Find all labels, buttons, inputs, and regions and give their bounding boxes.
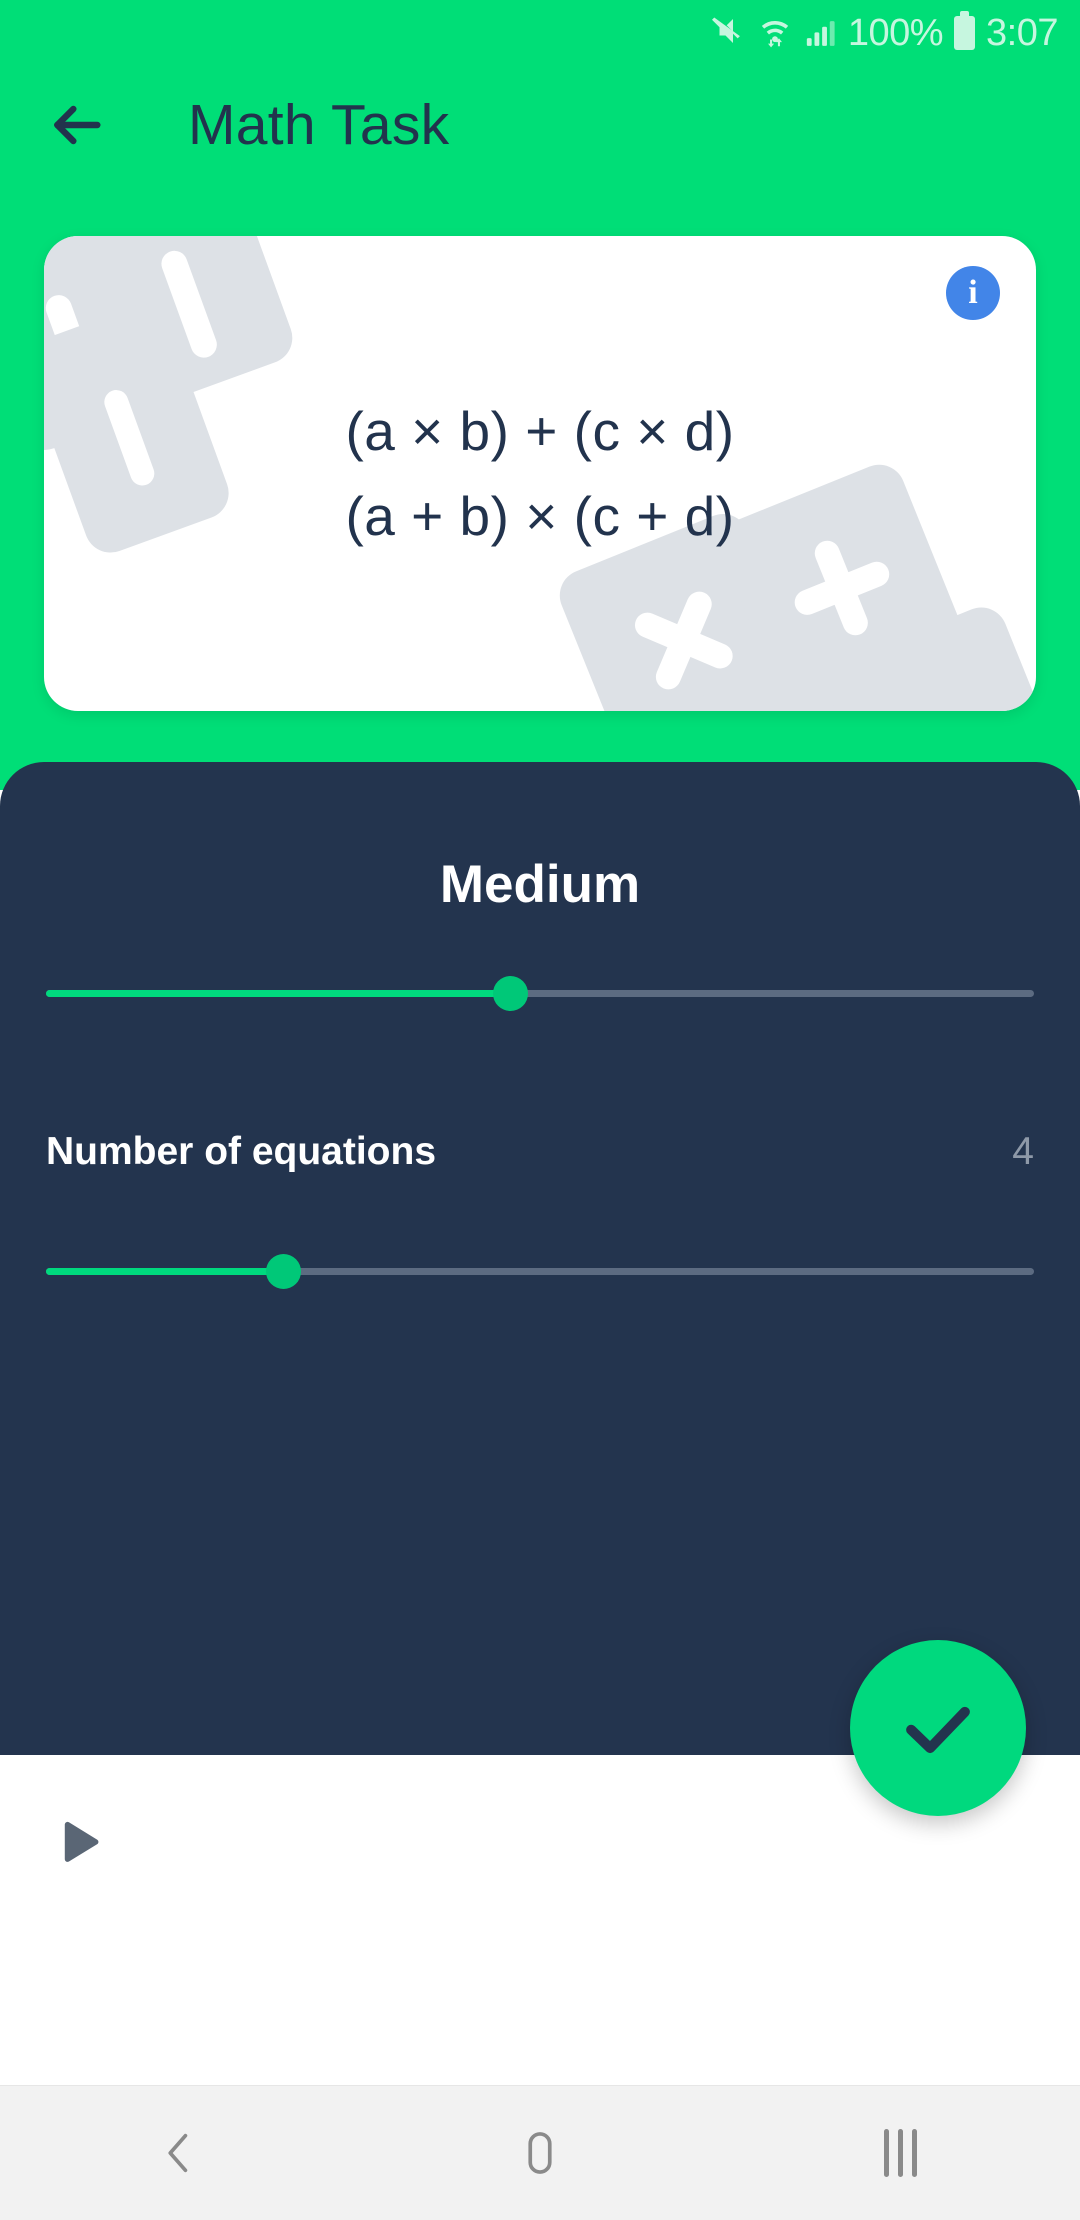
- battery-percent-text: 100%: [848, 14, 943, 52]
- android-nav-bar: [0, 2085, 1080, 2220]
- equation-line: (a + b) × (c + d): [345, 481, 734, 551]
- equation-line: (a × b) + (c × d): [345, 396, 734, 466]
- app-screen: 100% 3:07 Math Task: [0, 0, 1080, 2220]
- slider-thumb[interactable]: [493, 976, 528, 1011]
- slider-fill: [46, 1268, 283, 1275]
- play-button[interactable]: [46, 1812, 112, 1878]
- back-arrow-icon[interactable]: [22, 71, 130, 179]
- info-icon[interactable]: i: [946, 266, 1000, 320]
- cellular-signal-icon: [805, 14, 837, 53]
- nav-recents-icon[interactable]: [825, 2086, 975, 2220]
- settings-panel: Medium Number of equations 4: [0, 762, 1080, 1755]
- mute-icon: [709, 13, 745, 54]
- wifi-icon: [756, 13, 794, 54]
- app-bar: Math Task: [0, 66, 1080, 184]
- confirm-fab-button[interactable]: [850, 1640, 1026, 1816]
- status-bar: 100% 3:07: [0, 0, 1080, 66]
- info-icon-label: i: [968, 276, 977, 310]
- equation-card: i (a × b) + (c × d) (a + b) × (c + d): [44, 236, 1036, 711]
- clock-text: 3:07: [986, 14, 1058, 52]
- equation-list: (a × b) + (c × d) (a + b) × (c + d): [44, 236, 1036, 711]
- recents-bars: [884, 2129, 917, 2177]
- equations-count-row: Number of equations 4: [46, 1132, 1034, 1171]
- nav-back-icon[interactable]: [105, 2086, 255, 2220]
- play-icon: [48, 1814, 110, 1876]
- check-icon: [895, 1685, 981, 1771]
- equations-count-slider[interactable]: [46, 1248, 1034, 1294]
- difficulty-slider[interactable]: [46, 970, 1034, 1016]
- battery-icon: [954, 16, 975, 50]
- equations-count-label: Number of equations: [46, 1132, 436, 1171]
- slider-fill: [46, 990, 510, 997]
- nav-home-icon[interactable]: [465, 2086, 615, 2220]
- slider-thumb[interactable]: [266, 1254, 301, 1289]
- equations-count-value: 4: [1012, 1132, 1034, 1171]
- page-title: Math Task: [188, 97, 449, 154]
- difficulty-label: Medium: [0, 858, 1080, 911]
